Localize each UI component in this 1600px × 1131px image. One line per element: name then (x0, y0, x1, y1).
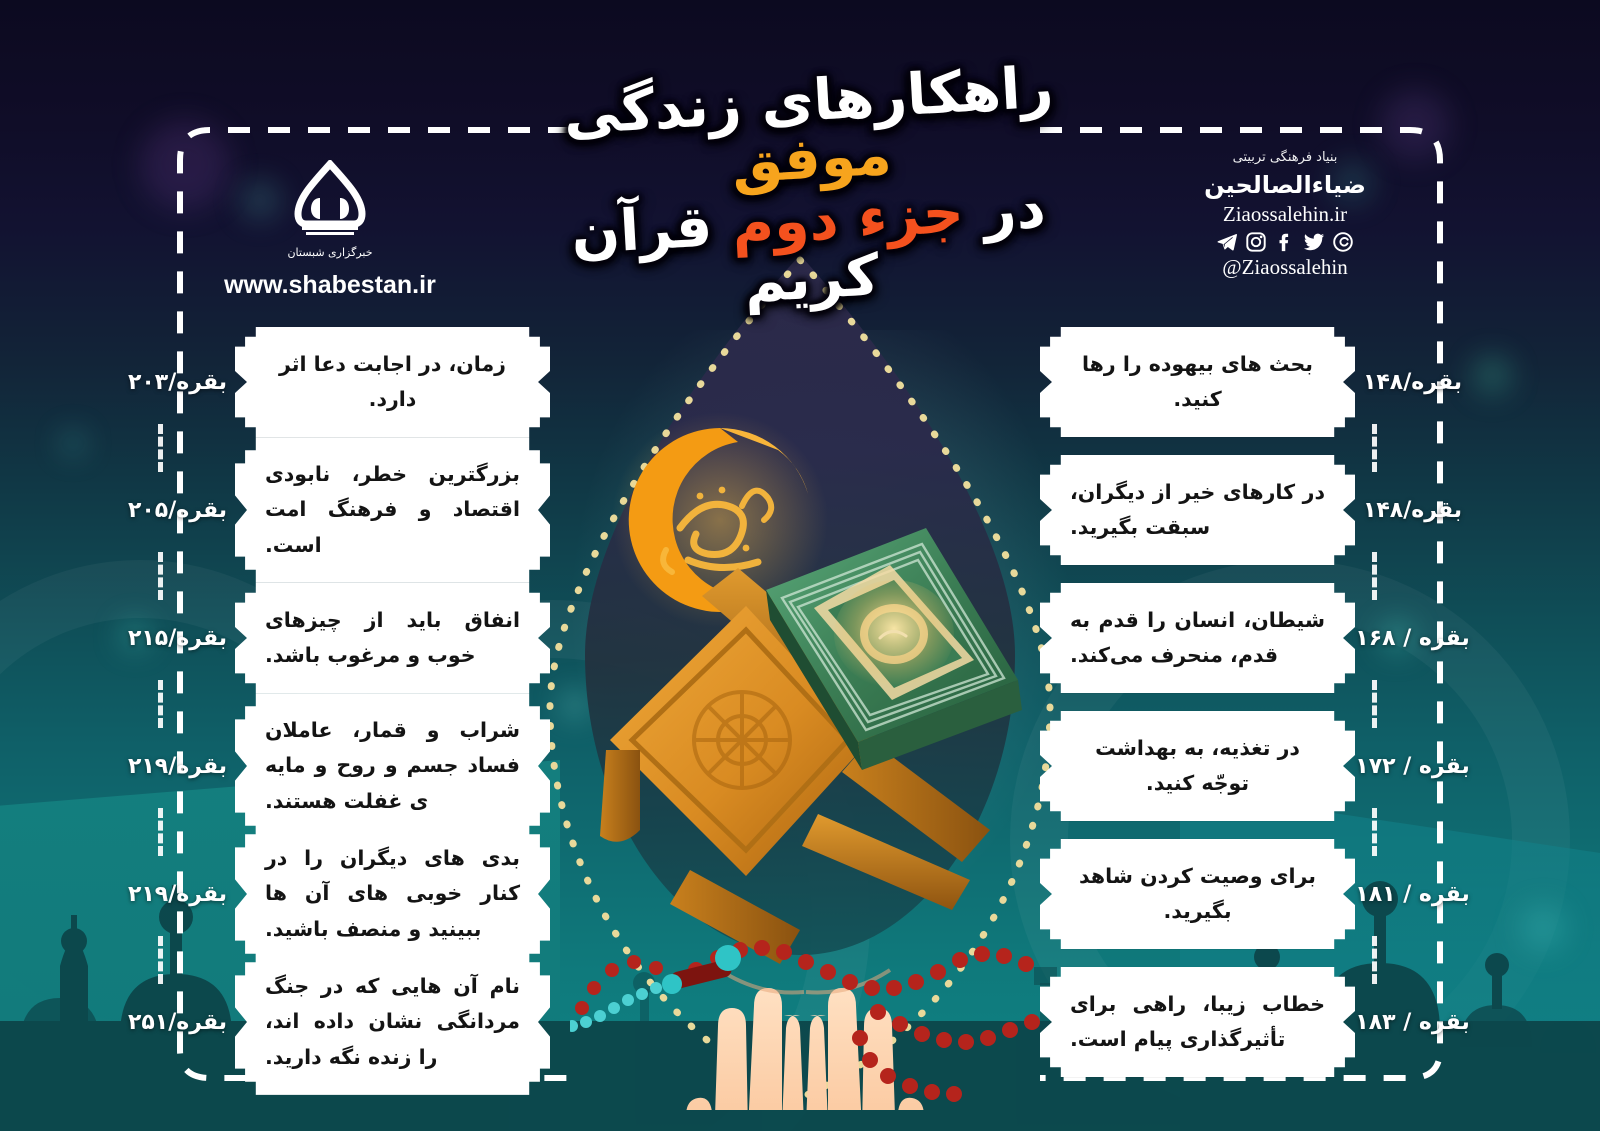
verse-card[interactable]: زمان، در اجابت دعا اثر دارد. (235, 327, 550, 438)
card-connector (158, 808, 163, 856)
brand-shabestan: خبرگزاری شبستان www.shabestan.ir (180, 160, 480, 300)
facebook-icon[interactable] (1274, 231, 1296, 253)
verse-reference: بقره/۲۵۱ (120, 1010, 235, 1035)
telegram-icon[interactable] (1216, 231, 1238, 253)
verse-card[interactable]: در کارهای خیر از دیگران، سبقت بگیرید. (1040, 455, 1355, 566)
verse-reference: بقره / ۱۷۲ (1355, 754, 1470, 779)
verse-card[interactable]: بزرگترین خطر، نابودی اقتصاد و فرهنگ امت … (235, 437, 550, 583)
left-card-column: زمان، در اجابت دعا اثر دارد.بقره/۲۰۳بزرگ… (120, 318, 550, 1086)
verse-row: شراب و قمار، عاملان فساد جسم و روح و مای… (120, 702, 550, 830)
ziaossalehin-handle[interactable]: @Ziaossalehin (1150, 255, 1420, 280)
verse-card[interactable]: انفاق باید از چیزهای خوب و مرغوب باشد. (235, 583, 550, 694)
card-connector (158, 424, 163, 472)
verse-card[interactable]: بحث های بیهوده را رها کنید. (1040, 327, 1355, 438)
verse-card[interactable]: در تغذیه، به بهداشت توجّه کنید. (1040, 711, 1355, 822)
verse-text: شراب و قمار، عاملان فساد جسم و روح و مای… (265, 713, 520, 819)
bokeh-light (60, 430, 86, 456)
verse-reference: بقره/۲۱۹ (120, 882, 235, 907)
verse-text: شیطان، انسان را قدم به قدم، منحرف می‌کند… (1070, 603, 1325, 674)
verse-text: انفاق باید از چیزهای خوب و مرغوب باشد. (265, 603, 520, 674)
verse-reference: بقره/۲۰۳ (120, 370, 235, 395)
card-connector (1372, 552, 1377, 600)
brand-ziaossalehin: بنیاد فرهنگی تربیتی ضیاءالصالحین Ziaossa… (1150, 150, 1420, 280)
eitaa-icon[interactable] (1332, 231, 1354, 253)
card-connector (158, 552, 163, 600)
verse-reference: بقره/۲۱۵ (120, 626, 235, 651)
verse-text: خطاب زیبا، راهی برای تأثیرگذاری پیام است… (1070, 987, 1325, 1058)
prayer-beads-icon (570, 940, 1040, 1102)
social-icon-row (1150, 231, 1420, 253)
verse-reference: بقره/۲۰۵ (120, 498, 235, 523)
verse-row: زمان، در اجابت دعا اثر دارد.بقره/۲۰۳ (120, 318, 550, 446)
page-title: راهکارهای زندگی موفق در جزء دوم قرآن کری… (500, 72, 1120, 309)
card-connector (158, 936, 163, 984)
quran-artwork (570, 410, 1040, 1110)
verse-card[interactable]: نام آن هایی که در جنگ مردانگی نشان داده … (235, 949, 550, 1095)
verse-row: انفاق باید از چیزهای خوب و مرغوب باشد.بق… (120, 574, 550, 702)
verse-reference: بقره/۱۴۸ (1355, 370, 1470, 395)
verse-card[interactable]: شراب و قمار، عاملان فساد جسم و روح و مای… (235, 693, 550, 839)
instagram-icon[interactable] (1245, 231, 1267, 253)
verse-reference: بقره / ۱۸۱ (1355, 882, 1470, 907)
verse-row: بدی های دیگران را در کنار خوبی های آن ها… (120, 830, 550, 958)
verse-card[interactable]: بدی های دیگران را در کنار خوبی های آن ها… (235, 821, 550, 967)
twitter-icon[interactable] (1303, 231, 1325, 253)
verse-row: بقره/۱۴۸در کارهای خیر از دیگران، سبقت بگ… (1040, 446, 1470, 574)
verse-row: بقره / ۱۷۲در تغذیه، به بهداشت توجّه کنید… (1040, 702, 1470, 830)
verse-card[interactable]: خطاب زیبا، راهی برای تأثیرگذاری پیام است… (1040, 967, 1355, 1078)
verse-text: بزرگترین خطر، نابودی اقتصاد و فرهنگ امت … (265, 457, 520, 563)
verse-text: نام آن هایی که در جنگ مردانگی نشان داده … (265, 969, 520, 1075)
verse-text: برای وصیت کردن شاهد بگیرید. (1070, 859, 1325, 930)
verse-card[interactable]: شیطان، انسان را قدم به قدم، منحرف می‌کند… (1040, 583, 1355, 694)
verse-row: بقره / ۱۶۸شیطان، انسان را قدم به قدم، من… (1040, 574, 1470, 702)
verse-text: بدی های دیگران را در کنار خوبی های آن ها… (265, 841, 520, 947)
card-connector (1372, 808, 1377, 856)
verse-row: بقره/۱۴۸بحث های بیهوده را رها کنید. (1040, 318, 1470, 446)
ziaossalehin-url[interactable]: Ziaossalehin.ir (1150, 202, 1420, 227)
infographic-canvas: راهکارهای زندگی موفق در جزء دوم قرآن کری… (0, 0, 1600, 1131)
verse-reference: بقره/۲۱۹ (120, 754, 235, 779)
verse-text: در تغذیه، به بهداشت توجّه کنید. (1070, 731, 1325, 802)
card-connector (1372, 936, 1377, 984)
verse-reference: بقره / ۱۶۸ (1355, 626, 1470, 651)
verse-row: نام آن هایی که در جنگ مردانگی نشان داده … (120, 958, 550, 1086)
verse-reference: بقره/۱۴۸ (1355, 498, 1470, 523)
verse-row: بقره / ۱۸۱برای وصیت کردن شاهد بگیرید. (1040, 830, 1470, 958)
shabestan-url[interactable]: www.shabestan.ir (180, 271, 480, 300)
verse-card[interactable]: برای وصیت کردن شاهد بگیرید. (1040, 839, 1355, 950)
shabestan-logo-caption: خبرگزاری شبستان (180, 246, 480, 259)
card-connector (158, 680, 163, 728)
verse-text: بحث های بیهوده را رها کنید. (1070, 347, 1325, 418)
verse-reference: بقره / ۱۸۳ (1355, 1010, 1470, 1035)
title-line2-pre: در (982, 175, 1048, 244)
ziaossalehin-name: ضیاءالصالحین (1150, 171, 1420, 199)
verse-text: زمان، در اجابت دعا اثر دارد. (265, 347, 520, 418)
right-card-column: بقره/۱۴۸بحث های بیهوده را رها کنید.بقره/… (1040, 318, 1470, 1086)
verse-text: در کارهای خیر از دیگران، سبقت بگیرید. (1070, 475, 1325, 546)
verse-row: بقره / ۱۸۳خطاب زیبا، راهی برای تأثیرگذار… (1040, 958, 1470, 1086)
verse-row: بزرگترین خطر، نابودی اقتصاد و فرهنگ امت … (120, 446, 550, 574)
ziaossalehin-subtitle: بنیاد فرهنگی تربیتی (1150, 150, 1420, 165)
card-connector (1372, 680, 1377, 728)
card-connector (1372, 424, 1377, 472)
shabestan-logo-icon (280, 160, 380, 244)
